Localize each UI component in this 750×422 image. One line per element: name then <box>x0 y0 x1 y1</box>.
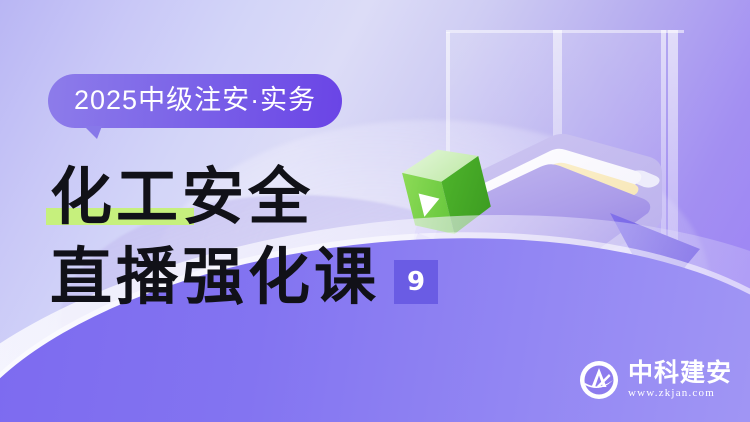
badge-pill: 2025中级注安·实务 <box>48 74 342 128</box>
logo-text-block: 中科建安 www.zkjan.com <box>628 359 732 400</box>
title-block: 化工安全 直播强化课 9 <box>50 158 520 310</box>
title-line-1-row: 化工安全 <box>50 158 520 230</box>
badge-label: 2025中级注安·实务 <box>74 85 316 115</box>
brand-logo: 中科建安 www.zkjan.com <box>579 359 732 400</box>
zkjan-logo-icon <box>579 360 619 400</box>
title-line-2: 直播强化课 <box>50 244 380 310</box>
course-category-badge: 2025中级注安·实务 <box>48 74 342 128</box>
course-promo-banner: 2025中级注安·实务 化工安全 直播强化课 9 中科建安 www.zkj <box>0 0 750 422</box>
logo-company-name: 中科建安 <box>628 359 732 386</box>
episode-number-badge: 9 <box>394 260 438 304</box>
title-line-2-row: 直播强化课 9 <box>50 238 520 310</box>
window-frame-top-bar <box>446 30 684 33</box>
title-line-1: 化工安全 <box>50 164 314 230</box>
logo-website-url: www.zkjan.com <box>628 386 715 400</box>
badge-tail <box>84 126 102 139</box>
